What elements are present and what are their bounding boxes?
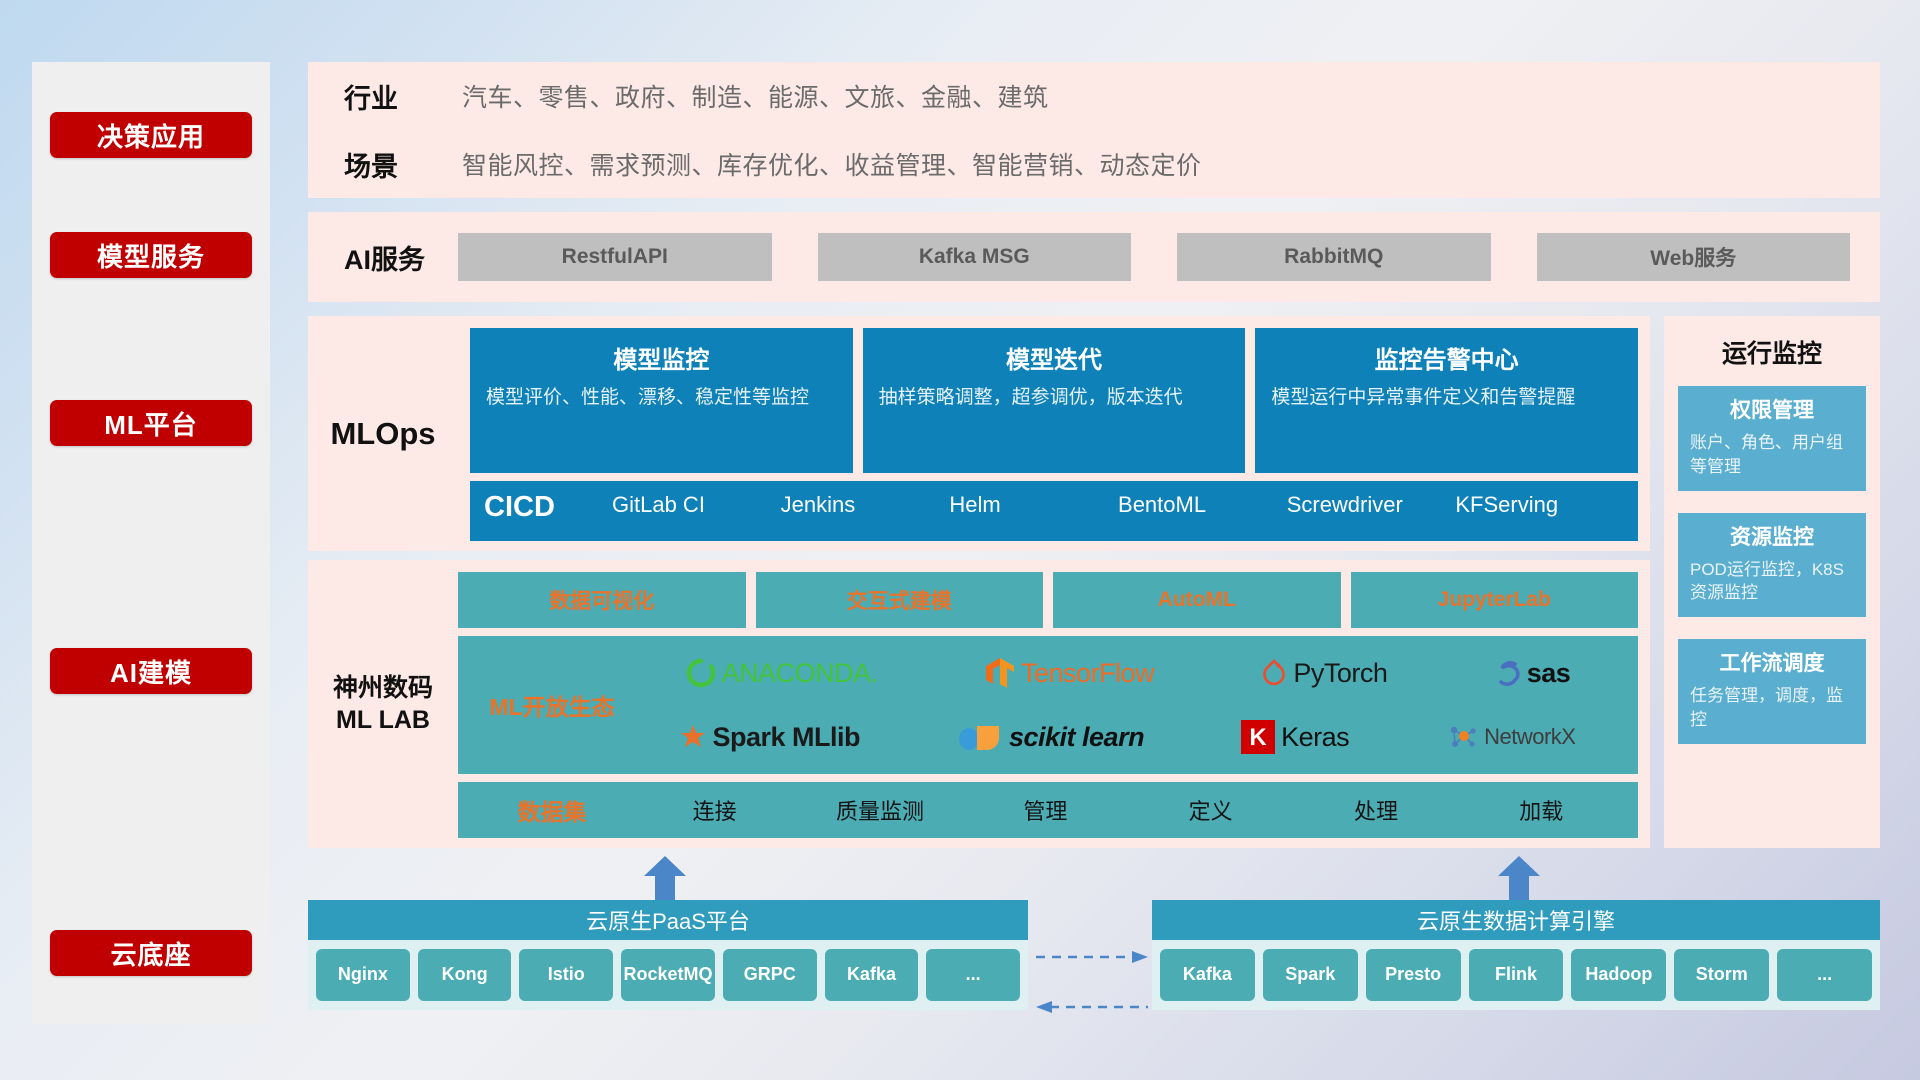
mlops-card-model-monitoring[interactable]: 模型监控 模型评价、性能、漂移、稳定性等监控 <box>470 328 853 473</box>
mlops-card-model-iteration[interactable]: 模型迭代 抽样策略调整，超参调优，版本迭代 <box>863 328 1246 473</box>
paas-chip-kafka[interactable]: Kafka <box>825 949 919 1001</box>
dashed-arrow-left-icon <box>1036 1000 1148 1014</box>
up-arrow-data-engine-icon <box>1496 854 1542 900</box>
sas-icon <box>1495 658 1521 688</box>
monitor-card-workflow[interactable]: 工作流调度 任务管理，调度，监控 <box>1678 639 1866 744</box>
industry-values: 汽车、零售、政府、制造、能源、文旅、金融、建筑 <box>462 78 1049 114</box>
data-chip-flink[interactable]: Flink <box>1469 949 1564 1001</box>
data-engine-title: 云原生数据计算引擎 <box>1152 900 1880 940</box>
application-row-industry: 行业 汽车、零售、政府、制造、能源、文旅、金融、建筑 <box>308 62 1880 130</box>
ml-lab-label-line1: 神州数码 <box>333 672 433 705</box>
mlops-content: 模型监控 模型评价、性能、漂移、稳定性等监控 模型迭代 抽样策略调整，超参调优，… <box>458 316 1650 551</box>
ai-service-chip-restfulapi[interactable]: RestfulAPI <box>458 233 772 281</box>
pytorch-logo: PyTorch <box>1261 658 1387 689</box>
monitor-card-permission[interactable]: 权限管理 账户、角色、用户组等管理 <box>1678 386 1866 491</box>
ai-service-label: AI服务 <box>308 238 458 277</box>
ml-ecosystem-logos: ANACONDA. TensorFlow <box>632 642 1624 768</box>
networkx-icon <box>1446 722 1478 752</box>
dataset-item-quality[interactable]: 质量监测 <box>797 794 962 826</box>
ml-lab-label: 神州数码 ML LAB <box>308 560 458 848</box>
mlops-card-alert-center[interactable]: 监控告警中心 模型运行中异常事件定义和告警提醒 <box>1255 328 1638 473</box>
cicd-bar: CICD GitLab CI Jenkins Helm BentoML Scre… <box>470 481 1638 541</box>
layer-chip-model-service[interactable]: 模型服务 <box>50 232 252 278</box>
paas-chip-rocketmq[interactable]: RocketMQ <box>621 949 715 1001</box>
ml-lab-panel: 神州数码 ML LAB 数据可视化 交互式建模 AutoML JupyterLa… <box>308 560 1650 848</box>
dataset-row: 数据集 连接 质量监测 管理 定义 处理 加载 <box>458 782 1638 838</box>
dataset-item-process[interactable]: 处理 <box>1293 794 1458 826</box>
ml-lab-tool-list: 数据可视化 交互式建模 AutoML JupyterLab <box>458 572 1638 628</box>
card-desc: 账户、角色、用户组等管理 <box>1690 431 1854 479</box>
layer-chip-decision-app[interactable]: 决策应用 <box>50 112 252 158</box>
ai-service-panel: AI服务 RestfulAPI Kafka MSG RabbitMQ Web服务 <box>308 212 1880 302</box>
paas-chip-kong[interactable]: Kong <box>418 949 512 1001</box>
tensorflow-logo: TensorFlow <box>985 657 1154 689</box>
keras-logo: K Keras <box>1241 720 1349 754</box>
spark-star-icon <box>680 724 706 750</box>
ml-lab-content: 数据可视化 交互式建模 AutoML JupyterLab ML开放生态 ANA… <box>458 560 1650 848</box>
spark-mllib-logo: Spark MLlib <box>680 722 860 753</box>
networkx-logo: NetworkX <box>1446 722 1575 752</box>
sas-logo: sas <box>1495 658 1571 689</box>
mlops-card-list: 模型监控 模型评价、性能、漂移、稳定性等监控 模型迭代 抽样策略调整，超参调优，… <box>470 328 1638 473</box>
paas-title: 云原生PaaS平台 <box>308 900 1028 940</box>
keras-logo-text: Keras <box>1281 722 1349 753</box>
cicd-title: CICD <box>484 491 612 524</box>
data-chip-kafka[interactable]: Kafka <box>1160 949 1255 1001</box>
cicd-item-list: GitLab CI Jenkins Helm BentoML Screwdriv… <box>612 491 1624 519</box>
scikit-learn-icon <box>957 722 1003 752</box>
tool-chip-automl[interactable]: AutoML <box>1053 572 1341 628</box>
dataset-item-connect[interactable]: 连接 <box>632 794 797 826</box>
data-chip-hadoop[interactable]: Hadoop <box>1571 949 1666 1001</box>
mlops-panel: MLOps 模型监控 模型评价、性能、漂移、稳定性等监控 模型迭代 抽样策略调整… <box>308 316 1650 551</box>
card-title: 监控告警中心 <box>1271 340 1622 375</box>
card-title: 工作流调度 <box>1690 647 1854 677</box>
data-chip-storm[interactable]: Storm <box>1674 949 1769 1001</box>
cicd-item-gitlab-ci[interactable]: GitLab CI <box>612 491 781 519</box>
paas-chip-nginx[interactable]: Nginx <box>316 949 410 1001</box>
sas-logo-text: sas <box>1527 658 1571 689</box>
cicd-item-jenkins[interactable]: Jenkins <box>781 491 950 519</box>
ai-service-chip-kafka-msg[interactable]: Kafka MSG <box>818 233 1132 281</box>
cicd-item-screwdriver[interactable]: Screwdriver <box>1287 491 1456 519</box>
paas-chip-grpc[interactable]: GRPC <box>723 949 817 1001</box>
application-row-scenario: 场景 智能风控、需求预测、库存优化、收益管理、智能营销、动态定价 <box>308 130 1880 198</box>
scikit-learn-logo-text: scikit learn <box>1009 722 1144 753</box>
cicd-item-kfserving[interactable]: KFServing <box>1455 491 1624 519</box>
card-desc: 模型评价、性能、漂移、稳定性等监控 <box>486 385 837 411</box>
data-engine-item-list: Kafka Spark Presto Flink Hadoop Storm ..… <box>1152 940 1880 1010</box>
scenario-values: 智能风控、需求预测、库存优化、收益管理、智能营销、动态定价 <box>462 146 1202 182</box>
ai-service-chip-rabbitmq[interactable]: RabbitMQ <box>1177 233 1491 281</box>
anaconda-logo: ANACONDA. <box>686 658 878 689</box>
dataset-label: 数据集 <box>472 793 632 827</box>
data-chip-more[interactable]: ... <box>1777 949 1872 1001</box>
ml-ecosystem-row: ML开放生态 ANACONDA. <box>458 636 1638 774</box>
applications-panel: 行业 汽车、零售、政府、制造、能源、文旅、金融、建筑 场景 智能风控、需求预测、… <box>308 62 1880 198</box>
card-title: 资源监控 <box>1690 521 1854 551</box>
dataset-item-list: 连接 质量监测 管理 定义 处理 加载 <box>632 794 1624 826</box>
card-desc: POD运行监控，K8S资源监控 <box>1690 558 1854 606</box>
industry-label: 行业 <box>344 77 462 116</box>
svg-text:K: K <box>1249 724 1267 751</box>
pytorch-logo-text: PyTorch <box>1293 658 1387 689</box>
layer-label-column: 决策应用 模型服务 ML平台 AI建模 云底座 <box>32 62 270 1024</box>
pytorch-icon <box>1261 658 1287 688</box>
up-arrow-paas-icon <box>642 854 688 900</box>
scenario-label: 场景 <box>344 145 462 184</box>
tool-chip-jupyterlab[interactable]: JupyterLab <box>1351 572 1639 628</box>
logo-line-1: ANACONDA. TensorFlow <box>632 642 1624 704</box>
card-desc: 任务管理，调度，监控 <box>1690 684 1854 732</box>
anaconda-icon <box>686 658 716 688</box>
cloud-native-paas-stack: 云原生PaaS平台 Nginx Kong Istio RocketMQ GRPC… <box>308 900 1028 1010</box>
ml-lab-label-line2: ML LAB <box>336 704 430 737</box>
tensorflow-logo-text: TensorFlow <box>1021 658 1154 689</box>
dataset-item-load[interactable]: 加载 <box>1459 794 1624 826</box>
spark-mllib-logo-text: Spark MLlib <box>712 722 860 753</box>
ml-ecosystem-label: ML开放生态 <box>472 688 632 722</box>
cicd-item-helm[interactable]: Helm <box>949 491 1118 519</box>
layer-chip-cloud-base[interactable]: 云底座 <box>50 930 252 976</box>
paas-item-list: Nginx Kong Istio RocketMQ GRPC Kafka ... <box>308 940 1028 1010</box>
card-desc: 抽样策略调整，超参调优，版本迭代 <box>879 385 1230 411</box>
ai-service-chip-list: RestfulAPI Kafka MSG RabbitMQ Web服务 <box>458 233 1880 281</box>
cloud-native-data-engine-stack: 云原生数据计算引擎 Kafka Spark Presto Flink Hadoo… <box>1152 900 1880 1010</box>
architecture-diagram: 决策应用 模型服务 ML平台 AI建模 云底座 行业 汽车、零售、政府、制造、能… <box>0 0 1920 1080</box>
tool-chip-data-visualization[interactable]: 数据可视化 <box>458 572 746 628</box>
data-chip-presto[interactable]: Presto <box>1366 949 1461 1001</box>
tensorflow-icon <box>985 657 1015 689</box>
data-chip-spark[interactable]: Spark <box>1263 949 1358 1001</box>
scikit-learn-logo: scikit learn <box>957 722 1144 753</box>
card-desc: 模型运行中异常事件定义和告警提醒 <box>1271 385 1622 411</box>
tool-chip-interactive-modeling[interactable]: 交互式建模 <box>756 572 1044 628</box>
layer-chip-ml-platform[interactable]: ML平台 <box>50 400 252 446</box>
ai-service-chip-web-service[interactable]: Web服务 <box>1537 233 1851 281</box>
paas-chip-istio[interactable]: Istio <box>519 949 613 1001</box>
runtime-monitor-title: 运行监控 <box>1678 334 1866 370</box>
card-title: 模型监控 <box>486 340 837 375</box>
runtime-monitor-panel: 运行监控 权限管理 账户、角色、用户组等管理 资源监控 POD运行监控，K8S资… <box>1664 316 1880 848</box>
dashed-arrow-right-icon <box>1036 950 1148 964</box>
dataset-item-define[interactable]: 定义 <box>1128 794 1293 826</box>
monitor-card-resource[interactable]: 资源监控 POD运行监控，K8S资源监控 <box>1678 513 1866 618</box>
card-title: 模型迭代 <box>879 340 1230 375</box>
logo-line-2: Spark MLlib scikit learn <box>632 706 1624 768</box>
paas-chip-more[interactable]: ... <box>926 949 1020 1001</box>
dataset-item-manage[interactable]: 管理 <box>963 794 1128 826</box>
cicd-item-bentoml[interactable]: BentoML <box>1118 491 1287 519</box>
keras-icon: K <box>1241 720 1275 754</box>
networkx-logo-text: NetworkX <box>1484 724 1575 750</box>
layer-chip-ai-modeling[interactable]: AI建模 <box>50 648 252 694</box>
anaconda-logo-text: ANACONDA. <box>722 658 878 689</box>
card-title: 权限管理 <box>1690 394 1854 424</box>
mlops-label: MLOps <box>308 316 458 551</box>
